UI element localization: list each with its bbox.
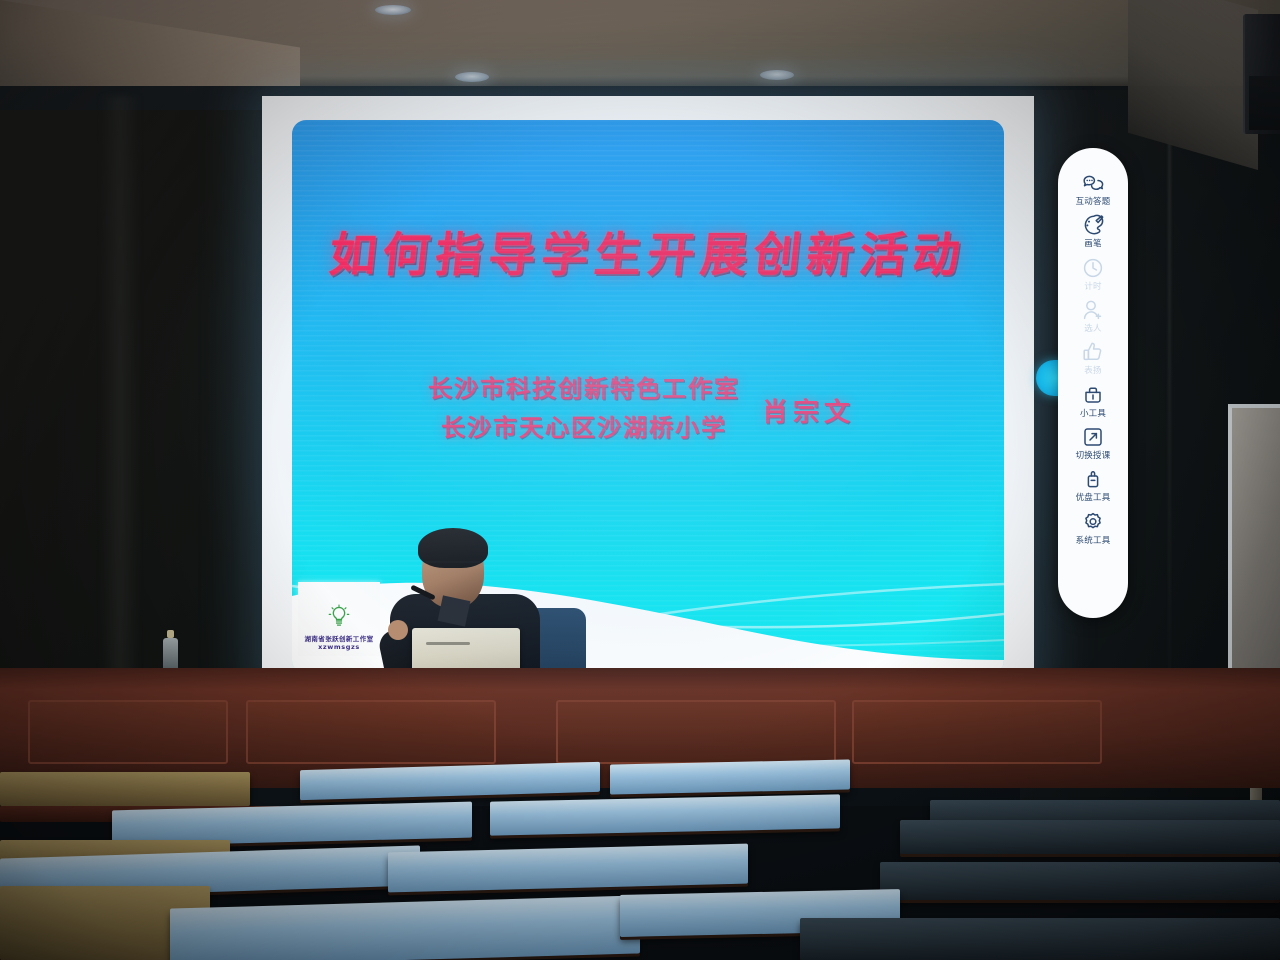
toolbar-item-usb-drive[interactable]: 优盘工具	[1058, 466, 1128, 503]
usb-drive-icon	[1080, 466, 1106, 492]
toolbar-item-label: 小工具	[1080, 410, 1106, 419]
toolbar-item-label: 画笔	[1084, 240, 1101, 249]
desk-top	[880, 862, 1280, 900]
desk-top	[0, 772, 250, 806]
toolbar-item-switch-screen[interactable]: 切换授课	[1058, 424, 1128, 461]
desk-top	[800, 918, 1280, 960]
gear-icon	[1080, 509, 1106, 535]
toolbox-icon	[1080, 382, 1106, 408]
chat-bubbles-icon	[1080, 170, 1106, 196]
toolbar-item-chat-bubbles[interactable]: 互动答题	[1058, 170, 1128, 207]
toolbar-item-brush[interactable]: 画笔	[1058, 212, 1128, 249]
desk-top	[388, 844, 748, 893]
toolbar-item-thumbs-up: 表扬	[1058, 339, 1128, 376]
presenter-collar	[438, 595, 471, 626]
switch-screen-icon	[1080, 424, 1106, 450]
toolbar-item-label: 选人	[1084, 325, 1101, 334]
toolbar-item-gear[interactable]: 系统工具	[1058, 509, 1128, 546]
toolbar-item-label: 系统工具	[1076, 537, 1111, 546]
stage-panel	[28, 700, 228, 764]
wall-column	[100, 96, 140, 696]
wall-speaker	[1243, 14, 1280, 134]
toolbar-item-label: 切换授课	[1076, 452, 1111, 461]
clock-icon	[1080, 255, 1106, 281]
toolbar-item-clock: 计时	[1058, 255, 1128, 292]
thumbs-up-icon	[1080, 339, 1106, 365]
toolbar-item-label: 互动答题	[1076, 198, 1111, 207]
desk-top	[610, 759, 850, 794]
stage-panel	[556, 700, 836, 764]
side-toolbar[interactable]: 互动答题画笔计时选人表扬小工具切换授课优盘工具系统工具	[1058, 148, 1128, 618]
toolbar-item-toolbox[interactable]: 小工具	[1058, 382, 1128, 419]
add-person-icon	[1080, 297, 1106, 323]
toolbar-item-label: 表扬	[1084, 367, 1101, 376]
toolbar-item-add-person: 选人	[1058, 297, 1128, 334]
bottle-cap	[167, 630, 174, 638]
brush-icon	[1080, 212, 1106, 238]
ceiling-light	[375, 5, 411, 15]
desk-top	[490, 794, 840, 835]
desk-top	[170, 895, 640, 960]
ceiling-light	[760, 70, 794, 80]
projection-screen: 如何指导学生开展创新活动 长沙市科技创新特色工作室 长沙市天心区沙湖桥小学 肖宗…	[262, 96, 1034, 692]
stage-panel	[246, 700, 496, 764]
toolbar-item-label: 计时	[1084, 283, 1101, 292]
toolbar-item-label: 优盘工具	[1076, 494, 1111, 503]
presenter-glasses	[426, 561, 480, 570]
stage-panel	[852, 700, 1102, 764]
presenter-hand	[388, 620, 408, 640]
screenshot-root: 如何指导学生开展创新活动 长沙市科技创新特色工作室 长沙市天心区沙湖桥小学 肖宗…	[0, 0, 1280, 960]
ceiling-light	[455, 72, 489, 82]
desk-top	[900, 820, 1280, 854]
